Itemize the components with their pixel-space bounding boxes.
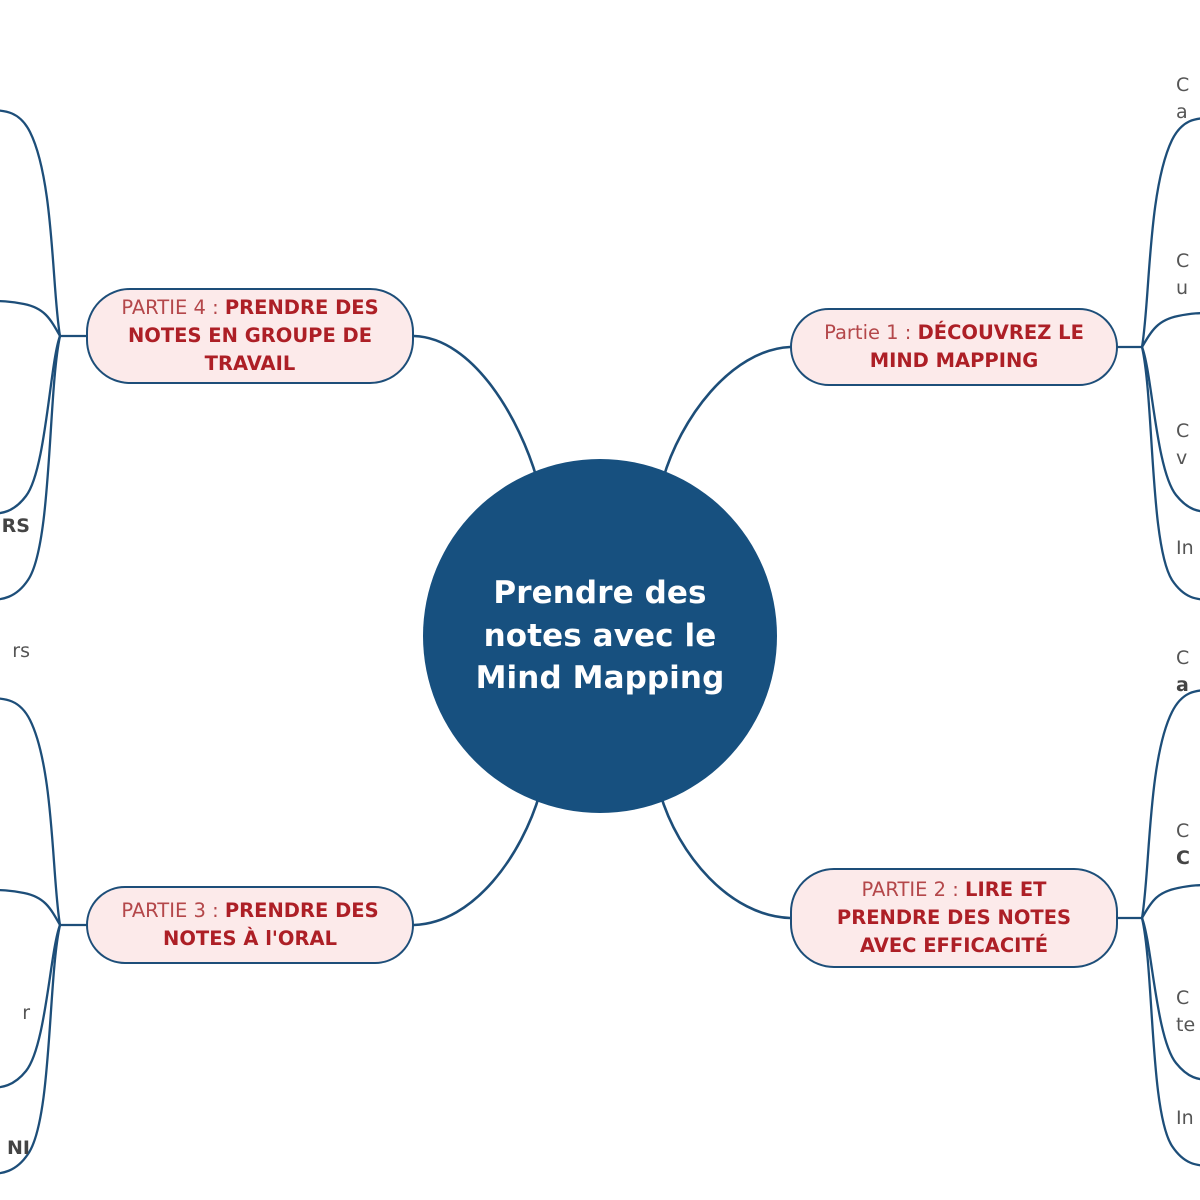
subbranch-tl-1 — [0, 110, 60, 336]
branch-node-partie-3[interactable]: PARTIE 3 : PRENDRE DES NOTES À l'ORAL — [86, 886, 414, 964]
subbranch-label-tr-1-line1: C — [1176, 72, 1189, 99]
subbranch-label-bl-3-line1: NI — [0, 1135, 30, 1162]
branch-prefix-partie-3: PARTIE 3 : — [121, 899, 225, 922]
subbranch-label-br-1-line2: a — [1176, 672, 1189, 699]
subbranch-label-tr-4[interactable]: In — [1176, 535, 1194, 562]
subbranch-label-tr-3-line2: v — [1176, 445, 1189, 472]
branch-node-partie-2[interactable]: PARTIE 2 : LIRE ET PRENDRE DES NOTES AVE… — [790, 868, 1118, 968]
subbranch-tr-3 — [1142, 347, 1200, 512]
subbranch-label-tr-4-line1: In — [1176, 535, 1194, 562]
subbranch-label-bl-3[interactable]: NI — [0, 1135, 30, 1162]
subbranch-label-tr-1[interactable]: C a — [1176, 72, 1189, 126]
subbranch-label-br-3-line2: te — [1176, 1012, 1195, 1039]
subbranch-label-br-2[interactable]: C C — [1176, 818, 1190, 872]
trunk-partie-3 — [414, 793, 540, 925]
subbranch-label-br-3-line1: C — [1176, 985, 1195, 1012]
subbranch-label-br-4-line1: In — [1176, 1105, 1194, 1132]
branch-node-partie-1[interactable]: Partie 1 : DÉCOUVREZ LE MIND MAPPING — [790, 308, 1118, 386]
branch-label-partie-3: PARTIE 3 : PRENDRE DES NOTES À l'ORAL — [88, 897, 412, 954]
subbranch-label-br-3[interactable]: C te — [1176, 985, 1195, 1039]
trunk-partie-2 — [660, 793, 790, 918]
subbranch-tr-1 — [1142, 118, 1200, 347]
subbranch-label-tl-1[interactable]: RS — [0, 513, 30, 540]
central-topic-label: Prendre des notes avec le Mind Mapping — [423, 572, 777, 700]
subbranch-bl-2 — [0, 890, 60, 925]
subbranch-label-tr-2-line1: C — [1176, 248, 1189, 275]
subbranch-bl-1 — [0, 698, 60, 925]
subbranch-label-br-4[interactable]: In — [1176, 1105, 1194, 1132]
subbranch-label-br-1[interactable]: C a — [1176, 645, 1189, 699]
branch-node-partie-4[interactable]: PARTIE 4 : PRENDRE DES NOTES EN GROUPE D… — [86, 288, 414, 384]
central-topic-node[interactable]: Prendre des notes avec le Mind Mapping — [423, 459, 777, 813]
trunk-partie-4 — [414, 336, 537, 479]
branch-prefix-partie-1: Partie 1 : — [824, 321, 917, 344]
subbranch-br-1 — [1142, 690, 1200, 918]
subbranch-label-tr-2[interactable]: C u — [1176, 248, 1189, 302]
branch-label-partie-2: PARTIE 2 : LIRE ET PRENDRE DES NOTES AVE… — [792, 876, 1116, 961]
subbranch-br-2 — [1142, 885, 1200, 918]
subbranch-label-tr-2-line2: u — [1176, 275, 1189, 302]
subbranch-label-br-2-line1: C — [1176, 818, 1190, 845]
mindmap-canvas: Prendre des notes avec le Mind Mapping P… — [0, 0, 1200, 1200]
subbranch-label-bl-2-line1: r — [0, 1000, 30, 1027]
subbranch-label-tr-1-line2: a — [1176, 99, 1189, 126]
branch-label-partie-4: PARTIE 4 : PRENDRE DES NOTES EN GROUPE D… — [88, 294, 412, 379]
subbranch-tl-4 — [0, 336, 60, 600]
branch-label-partie-1: Partie 1 : DÉCOUVREZ LE MIND MAPPING — [792, 319, 1116, 376]
subbranch-label-tr-3-line1: C — [1176, 418, 1189, 445]
trunk-partie-1 — [663, 347, 790, 479]
subbranch-label-bl-2[interactable]: r — [0, 1000, 30, 1027]
subbranch-label-br-1-line1: C — [1176, 645, 1189, 672]
subbranch-label-br-2-line2: C — [1176, 845, 1190, 872]
subbranch-tl-3 — [0, 336, 60, 514]
subbranch-label-tl-1-line1: RS — [0, 513, 30, 540]
subbranch-label-tr-3[interactable]: C v — [1176, 418, 1189, 472]
branch-prefix-partie-4: PARTIE 4 : — [121, 296, 225, 319]
subbranch-label-tl-2-line1: rs — [0, 638, 30, 665]
subbranch-tl-2 — [0, 301, 60, 336]
subbranch-tr-4 — [1142, 347, 1200, 600]
subbranch-tr-2 — [1142, 313, 1200, 347]
subbranch-label-tl-2[interactable]: rs — [0, 638, 30, 665]
branch-prefix-partie-2: PARTIE 2 : — [862, 878, 966, 901]
